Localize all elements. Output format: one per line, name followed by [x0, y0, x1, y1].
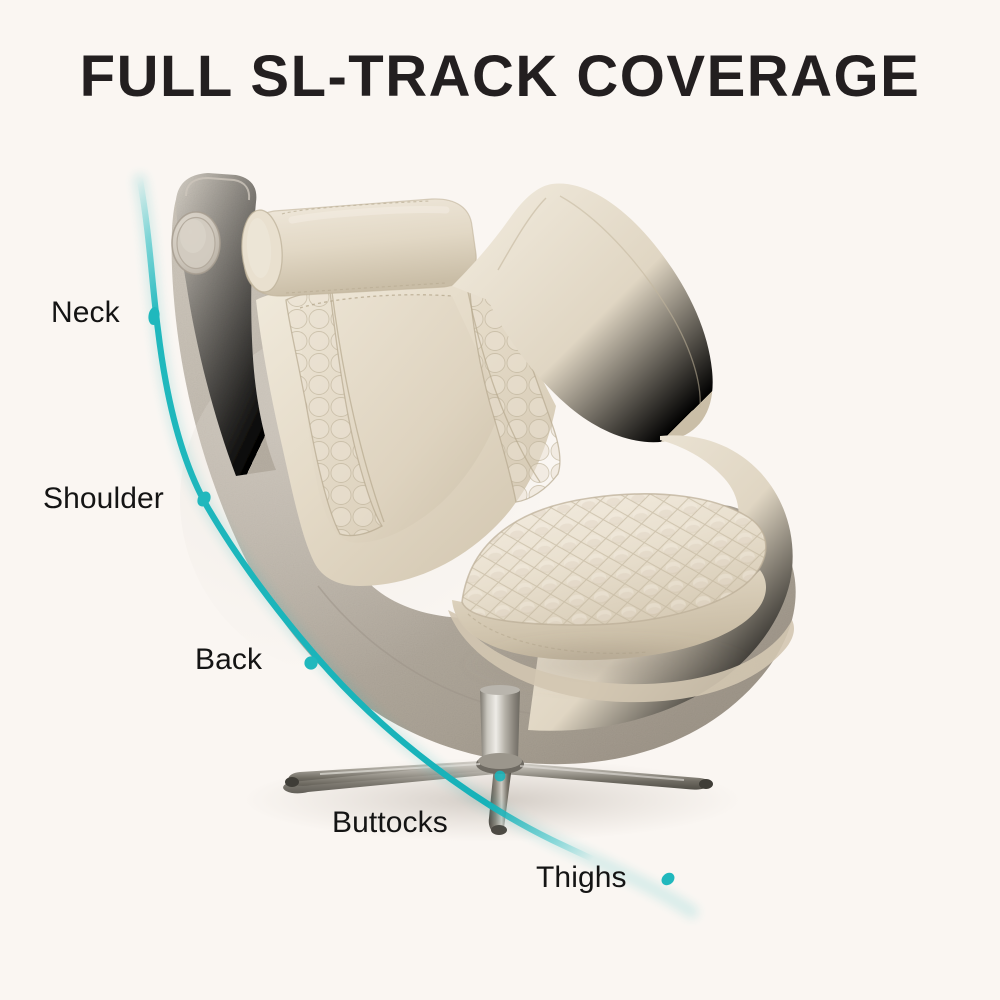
track-node-back	[304, 656, 317, 669]
label-buttocks: Buttocks	[332, 806, 448, 840]
label-thighs: Thighs	[536, 861, 627, 895]
headrest-pillow	[239, 199, 476, 296]
massage-chair	[172, 173, 800, 835]
diagram-canvas: FULL SL-TRACK COVERAGE Neck Shoulder Bac…	[0, 0, 1000, 1000]
label-neck: Neck	[51, 296, 120, 330]
page-title: FULL SL-TRACK COVERAGE	[0, 46, 1000, 109]
side-control-dial	[172, 212, 220, 274]
track-node-thighs	[659, 870, 677, 888]
label-shoulder: Shoulder	[43, 482, 164, 516]
track-node-buttocks	[495, 771, 506, 782]
label-back: Back	[195, 643, 262, 677]
